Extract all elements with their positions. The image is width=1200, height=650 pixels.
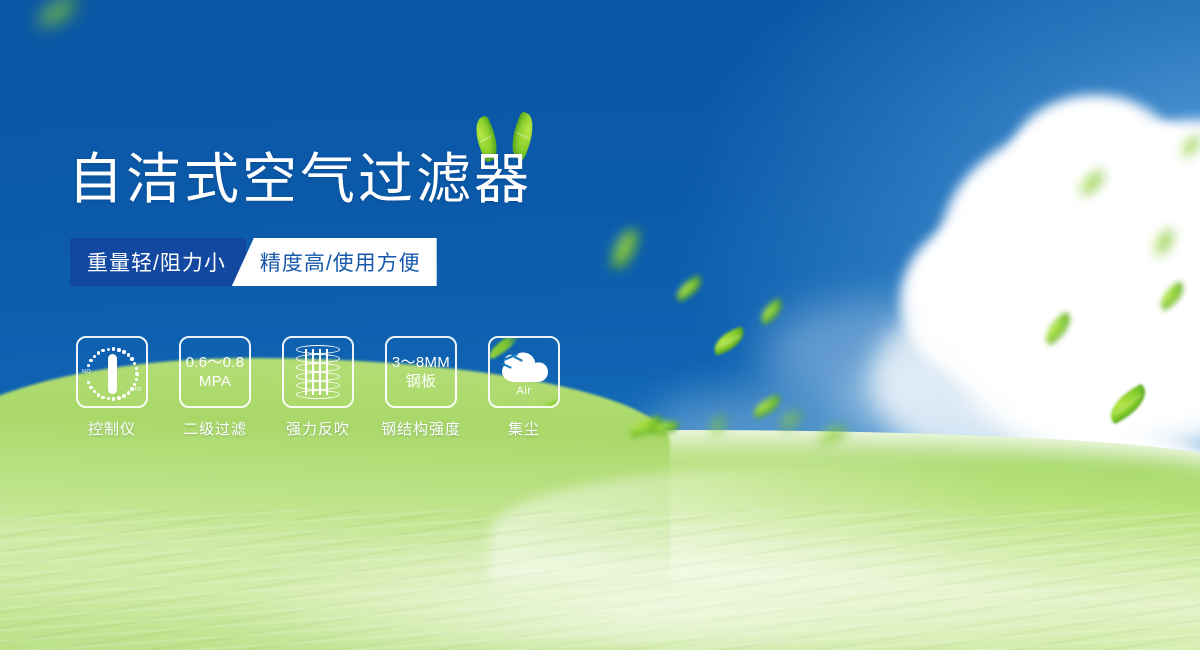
gauge-icon-box: NO OFF (76, 336, 148, 408)
steel-plate-icon: 3〜8MM 钢板 (392, 353, 450, 391)
gauge-tick (135, 367, 138, 370)
gauge-tick (97, 393, 100, 396)
gauge-tick (107, 397, 110, 400)
gauge-icon: NO OFF (81, 343, 143, 401)
subtitle-primary: 重量轻/阻力小 (70, 238, 246, 286)
feature-label: 控制仪 (88, 418, 136, 439)
gauge-tick (117, 396, 120, 399)
gauge-tick (130, 387, 133, 390)
feature-label: 二级过滤 (183, 418, 247, 439)
feature-item-steel[interactable]: 3〜8MM 钢板 钢结构强度 (379, 336, 463, 439)
feature-item-dust[interactable]: Air 集尘 (482, 336, 566, 439)
gauge-tick (127, 391, 130, 394)
pressure-value-icon-box: 0.6〜0.8 MPA (179, 336, 251, 408)
gauge-tick (135, 372, 138, 375)
air-cloud-icon: Air (497, 350, 551, 394)
product-banner: 自洁式空气过滤器 重量轻/阻力小 精度高/使用方便 NO OFF 控制仪 (0, 0, 1200, 650)
air-label: Air (497, 385, 551, 397)
gauge-tick (127, 353, 130, 356)
feature-label: 钢结构强度 (381, 418, 461, 439)
floating-green-leaf (628, 415, 665, 438)
feature-item-filtration[interactable]: 0.6〜0.8 MPA 二级过滤 (173, 336, 257, 439)
gauge-tick (112, 347, 115, 350)
gauge-tick (117, 348, 120, 351)
filter-cartridge-icon-box (282, 336, 354, 408)
subtitle-secondary: 精度高/使用方便 (232, 238, 437, 286)
gauge-tick (93, 390, 96, 393)
feature-label: 强力反吹 (286, 418, 350, 439)
gauge-tick (122, 350, 125, 353)
gauge-tick (89, 359, 92, 362)
gauge-tick (133, 362, 136, 365)
air-cloud-icon-box: Air (488, 336, 560, 408)
gauge-tick (93, 355, 96, 358)
feature-item-control[interactable]: NO OFF 控制仪 (70, 336, 154, 439)
banner-content: 自洁式空气过滤器 重量轻/阻力小 精度高/使用方便 NO OFF 控制仪 (0, 0, 1200, 650)
leaf-accent-icon (533, 398, 560, 408)
pressure-value-icon: 0.6〜0.8 MPA (186, 353, 245, 391)
feature-item-blowback[interactable]: 强力反吹 (276, 336, 360, 439)
gauge-tick (87, 364, 90, 367)
gauge-tick (122, 394, 125, 397)
gauge-tick (130, 357, 133, 360)
gauge-tick (101, 396, 104, 399)
gauge-tick (107, 348, 110, 351)
gauge-needle (108, 354, 117, 394)
gauge-tick (101, 349, 104, 352)
feature-label: 集尘 (508, 418, 540, 439)
gauge-tick (133, 383, 136, 386)
gauge-tick (87, 381, 90, 384)
subtitle-ribbon: 重量轻/阻力小 精度高/使用方便 (70, 238, 437, 286)
gauge-tick (112, 397, 115, 400)
steel-plate-icon-box: 3〜8MM 钢板 (385, 336, 457, 408)
gauge-tick (97, 351, 100, 354)
page-title: 自洁式空气过滤器 (68, 148, 532, 210)
gauge-label-no: NO (82, 369, 91, 375)
gauge-tick (135, 378, 138, 381)
filter-cartridge-icon (295, 345, 341, 399)
gauge-tick (89, 386, 92, 389)
feature-list: NO OFF 控制仪 0.6〜0.8 MPA 二级过滤 (70, 336, 566, 439)
